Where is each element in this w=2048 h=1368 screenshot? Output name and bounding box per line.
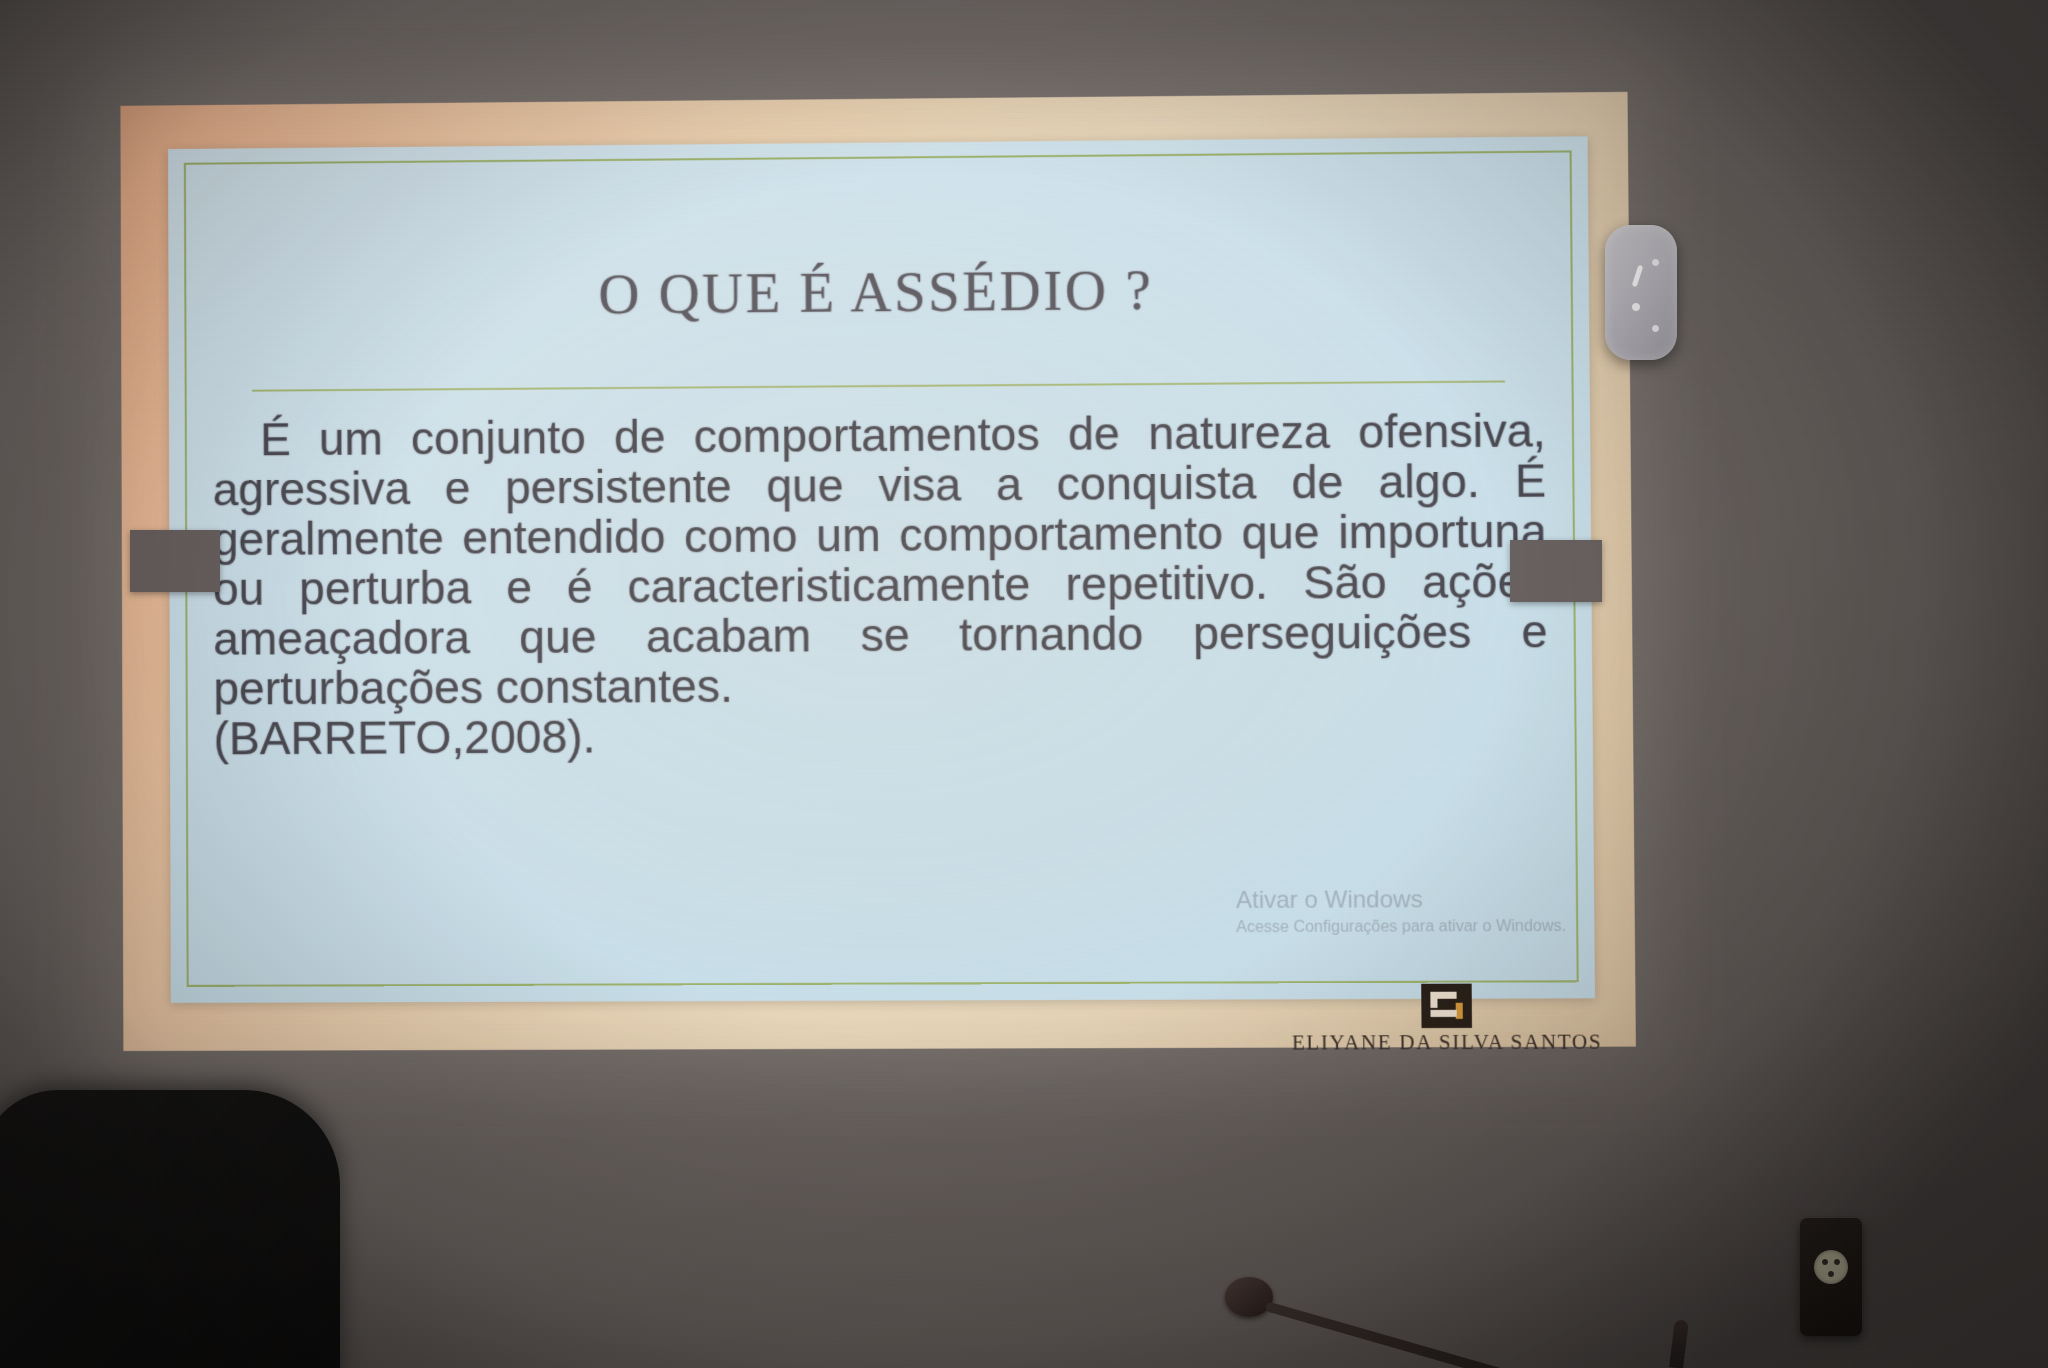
presenter-signature: ELIYANE DA SILVA SANTOS — [1280, 983, 1614, 1056]
slide-title: O QUE É ASSÉDIO ? — [168, 255, 1589, 331]
watermark-title: Ativar o Windows — [1236, 884, 1566, 918]
chair-silhouette — [0, 1090, 340, 1368]
presenter-name: ELIYANE DA SILVA SANTOS — [1280, 1030, 1613, 1056]
fixture-highlight — [1632, 303, 1640, 311]
wall-speaker-fixture — [1605, 225, 1677, 360]
slide-frame: O QUE É ASSÉDIO ? É um conjunto de compo… — [120, 92, 1635, 1051]
outlet-socket — [1814, 1250, 1848, 1284]
wall-power-outlet — [1800, 1218, 1862, 1336]
projected-slide: O QUE É ASSÉDIO ? É um conjunto de compo… — [120, 92, 1635, 1051]
microphone-neck — [1265, 1301, 1585, 1368]
slide-content-panel: O QUE É ASSÉDIO ? É um conjunto de compo… — [168, 136, 1595, 1003]
slide-citation: (BARRETO,2008). — [214, 706, 1549, 763]
body-paragraph: É um conjunto de comportamentos de natur… — [213, 404, 1548, 714]
fixture-highlight — [1632, 265, 1644, 287]
screen-mount-bracket-right — [1510, 540, 1602, 602]
gooseneck-microphone-stem — [1669, 1319, 1689, 1368]
watermark-subtitle: Acesse Configurações para ativar o Windo… — [1236, 916, 1566, 939]
fixture-highlight — [1652, 259, 1659, 266]
conference-room-photo: O QUE É ASSÉDIO ? É um conjunto de compo… — [0, 0, 2048, 1368]
gooseneck-microphone — [1180, 1265, 1600, 1368]
microphone-head — [1225, 1277, 1273, 1317]
windows-activation-watermark: Ativar o Windows Acesse Configurações pa… — [1236, 884, 1566, 940]
stylized-s-logo-icon — [1421, 984, 1472, 1028]
fixture-highlight — [1652, 325, 1659, 332]
screen-mount-bracket-left — [130, 530, 220, 592]
slide-body-text: É um conjunto de comportamentos de natur… — [212, 405, 1548, 763]
